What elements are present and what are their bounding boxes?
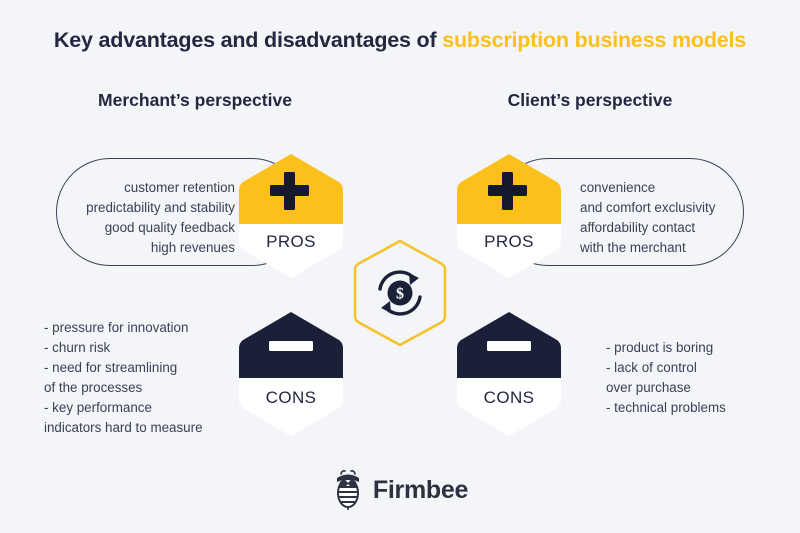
merchant-cons-hexagon: CONS: [235, 310, 347, 438]
minus-icon: [269, 341, 313, 351]
client-cons-hexagon: CONS: [453, 310, 565, 438]
center-hexagon: $: [349, 238, 451, 348]
svg-text:$: $: [396, 285, 404, 302]
client-cons-list: - product is boring - lack of control ov…: [606, 338, 791, 418]
client-pros-list: convenience and comfort exclusivity affo…: [580, 178, 755, 258]
minus-icon: [487, 341, 531, 351]
merchant-pros-label: PROS: [235, 232, 347, 252]
footer-logo: Firmbee: [0, 470, 800, 510]
merchant-pros-list: customer retention predictability and st…: [70, 178, 235, 258]
merchant-cons-list: - pressure for innovation - churn risk -…: [44, 318, 239, 438]
page-title-accent: subscription business models: [442, 28, 746, 52]
merchant-column-heading: Merchant’s perspective: [70, 90, 320, 111]
merchant-cons-label: CONS: [235, 388, 347, 408]
infographic-canvas: Key advantages and disadvantages of subs…: [0, 0, 800, 533]
firmbee-bee-logo-icon: [332, 470, 364, 510]
client-pros-label: PROS: [453, 232, 565, 252]
merchant-pros-hexagon: PROS: [235, 152, 347, 280]
client-column-heading: Client’s perspective: [465, 90, 715, 111]
firmbee-wordmark: Firmbee: [373, 476, 468, 505]
client-cons-label: CONS: [453, 388, 565, 408]
client-pros-hexagon: PROS: [453, 152, 565, 280]
page-title-lead: Key advantages and disadvantages of: [54, 28, 442, 52]
recurring-payment-dollar-icon: $: [380, 272, 420, 314]
page-title: Key advantages and disadvantages of subs…: [0, 28, 800, 53]
